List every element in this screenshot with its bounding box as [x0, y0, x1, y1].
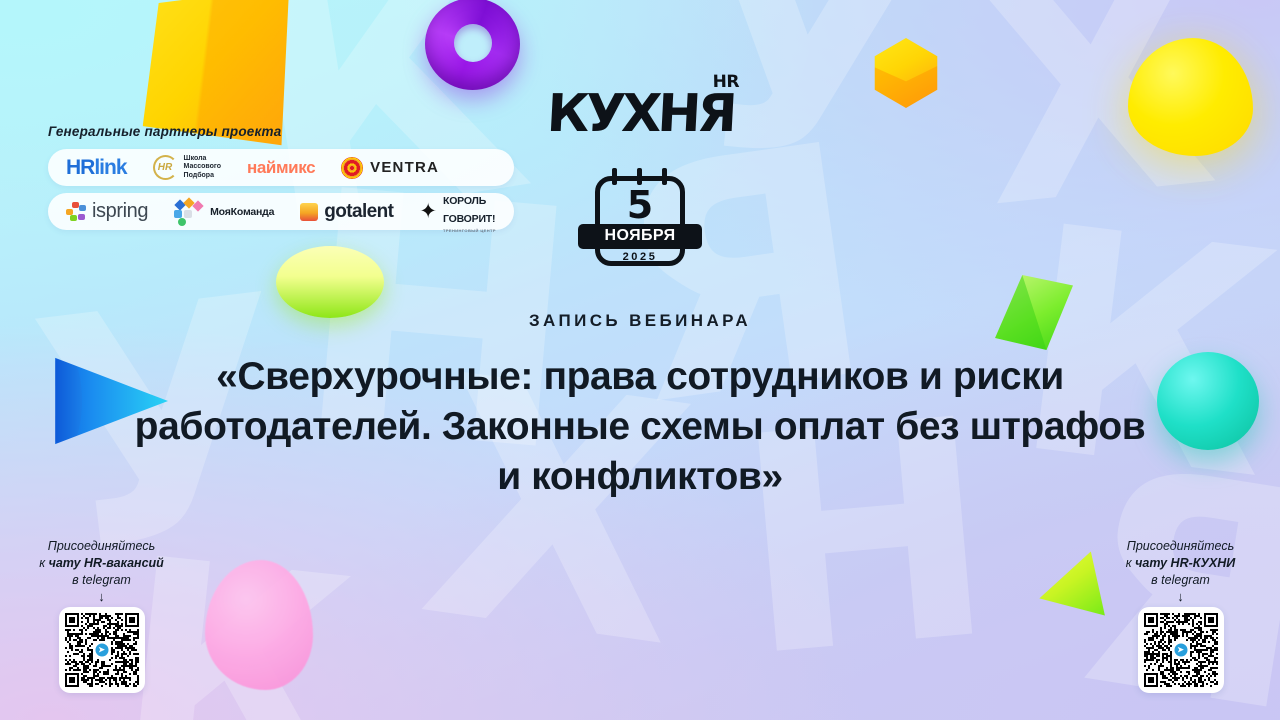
ventra-spiral-icon — [341, 157, 363, 179]
gotalent-text: gotalent — [324, 201, 393, 223]
telegram-cta-vacancies[interactable]: Присоединяйтесь к чату HR-вакансий в tel… — [14, 538, 189, 693]
purple-donut-shape — [425, 0, 520, 90]
calendar-day: 5 — [587, 186, 693, 224]
brand-superscript-hr: HR — [712, 74, 739, 91]
tg-left-line-2-plain: к — [39, 556, 48, 570]
tg-right-line-3: в telegram — [1151, 573, 1210, 587]
partner-logo-shkola-massovogo-podbora[interactable]: HR Школа Массового Подбора — [153, 155, 221, 181]
lime-disc-shape — [276, 246, 384, 318]
tg-right-line-2-bold: чату HR-КУХНИ — [1135, 556, 1235, 570]
partner-logo-moyakomanda[interactable]: МояКоманда — [174, 199, 274, 225]
naimix-text: наймикс — [247, 158, 315, 178]
partner-logo-hrlink[interactable]: HRlink — [66, 156, 127, 180]
telegram-icon: ➤ — [1172, 642, 1189, 659]
tg-right-line-2-plain: к — [1126, 556, 1135, 570]
calendar-month: НОЯБРЯ — [578, 224, 702, 249]
korol-star-icon: ✦ — [419, 201, 437, 222]
partner-logo-gotalent[interactable]: gotalent — [300, 201, 393, 223]
brand-word-text: КУХНЯ — [545, 84, 734, 144]
hrlink-link-text: link — [94, 156, 126, 179]
korol-line-1: КОРОЛЬ — [443, 195, 486, 207]
ispring-dots-icon — [66, 202, 86, 222]
partner-logo-naimix[interactable]: наймикс — [247, 158, 315, 178]
tg-right-line-1: Присоединяйтесь — [1127, 539, 1234, 553]
gotalent-mark-icon — [300, 203, 318, 221]
hrlink-hr-text: HR — [66, 156, 94, 179]
shkola-hr-mark: HR — [153, 155, 178, 180]
partner-logo-row-2: ispring МояКоманда gotalent ✦ — [48, 193, 514, 230]
telegram-cta-kuhnya[interactable]: Присоединяйтесь к чату HR-КУХНИ в telegr… — [1093, 538, 1268, 693]
tg-left-line-1: Присоединяйтесь — [48, 539, 155, 553]
ispring-text: ispring — [92, 200, 148, 223]
kicker-label: ЗАПИСЬ ВЕБИНАРА — [0, 311, 1280, 331]
arrow-down-icon: ↓ — [14, 590, 189, 603]
moyakomanda-text: МояКоманда — [210, 206, 274, 218]
partner-logo-ventra[interactable]: VENTRA — [341, 157, 439, 179]
webinar-poster: КУХНЯКУХНЯК Генеральные партнеры проекта… — [0, 0, 1280, 720]
partner-logo-korol-govorit[interactable]: ✦ КОРОЛЬ ГОВОРИТ! ТРЕНИНГОВЫЙ ЦЕНТР — [419, 191, 496, 233]
arrow-down-icon: ↓ — [1093, 590, 1268, 603]
tg-left-line-3: в telegram — [72, 573, 131, 587]
shkola-line-1: Школа — [184, 155, 207, 162]
shkola-line-2: Массового — [184, 163, 221, 170]
ventra-text: VENTRA — [370, 159, 439, 176]
moyakomanda-dots-icon — [174, 199, 204, 225]
qr-code-vacancies[interactable]: ➤ — [59, 607, 145, 693]
tg-left-line-2-bold: чату HR-вакансий — [49, 556, 164, 570]
page-title: «Сверхурочные: права сотрудников и риски… — [120, 352, 1160, 502]
partners-section: Генеральные партнеры проекта HRlink HR Ш… — [48, 124, 514, 237]
shkola-line-3: Подбора — [184, 172, 214, 179]
calendar-badge: 5 НОЯБРЯ 2025 — [587, 168, 693, 266]
pink-egg-shape — [205, 560, 313, 690]
teal-sphere-shape — [1157, 352, 1259, 450]
korol-subtitle: ТРЕНИНГОВЫЙ ЦЕНТР — [443, 228, 496, 233]
brand-logo: КУХНЯ HR — [0, 88, 1280, 140]
qr-code-kuhnya[interactable]: ➤ — [1138, 607, 1224, 693]
partner-logo-ispring[interactable]: ispring — [66, 200, 148, 223]
telegram-icon: ➤ — [93, 642, 110, 659]
korol-line-2: ГОВОРИТ! — [443, 213, 495, 225]
partner-logo-row-1: HRlink HR Школа Массового Подбора наймик… — [48, 149, 514, 186]
calendar-year: 2025 — [587, 251, 693, 263]
